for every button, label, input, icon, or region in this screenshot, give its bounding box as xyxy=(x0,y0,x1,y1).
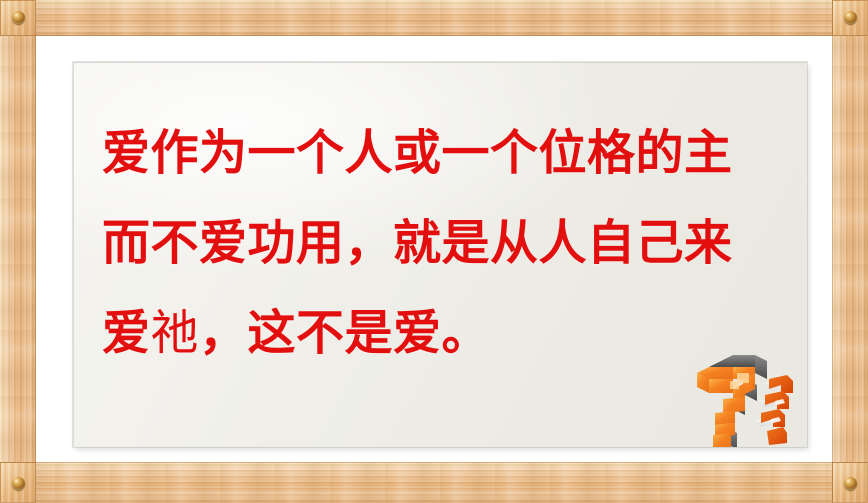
frame-seam-bottom xyxy=(0,462,868,463)
frame-bolt-bottom-left xyxy=(12,477,25,490)
headline-line-3: 爱祂，这不是爱。 xyxy=(102,289,779,379)
frame-rail-top xyxy=(0,0,868,36)
headline-line-3-text-b: 祂 xyxy=(151,307,200,360)
frame-bolt-bottom-right xyxy=(844,477,857,490)
headline-block: 爱作为一个人或一个位格的主 而不爱功用，就是从人自己来 爱祂，这不是爱。 xyxy=(74,63,807,379)
frame-seam-right xyxy=(832,0,833,503)
frame-bolt-top-right xyxy=(844,11,857,24)
slide-canvas: 爱作为一个人或一个位格的主 而不爱功用，就是从人自己来 爱祂，这不是爱。 xyxy=(0,0,868,503)
headline-line-1: 爱作为一个人或一个位格的主 xyxy=(102,109,779,199)
headline-line-2: 而不爱功用，就是从人自己来 xyxy=(102,199,779,289)
headline-line-2-text: 而不爱功用，就是从人自己来 xyxy=(102,217,733,270)
content-card: 爱作为一个人或一个位格的主 而不爱功用，就是从人自己来 爱祂，这不是爱。 xyxy=(73,62,807,447)
headline-line-1-text: 爱作为一个人或一个位格的主 xyxy=(102,127,733,180)
frame-rail-right xyxy=(832,0,868,503)
frame-bolt-top-left xyxy=(12,11,25,24)
frame-rail-left xyxy=(0,0,36,503)
headline-line-3-text-a: 爱 xyxy=(102,307,151,360)
frame-rail-bottom xyxy=(0,462,868,503)
headline-line-3-text-c: ，这不是爱。 xyxy=(199,307,490,360)
pixel-question-mark-icon xyxy=(689,349,799,447)
